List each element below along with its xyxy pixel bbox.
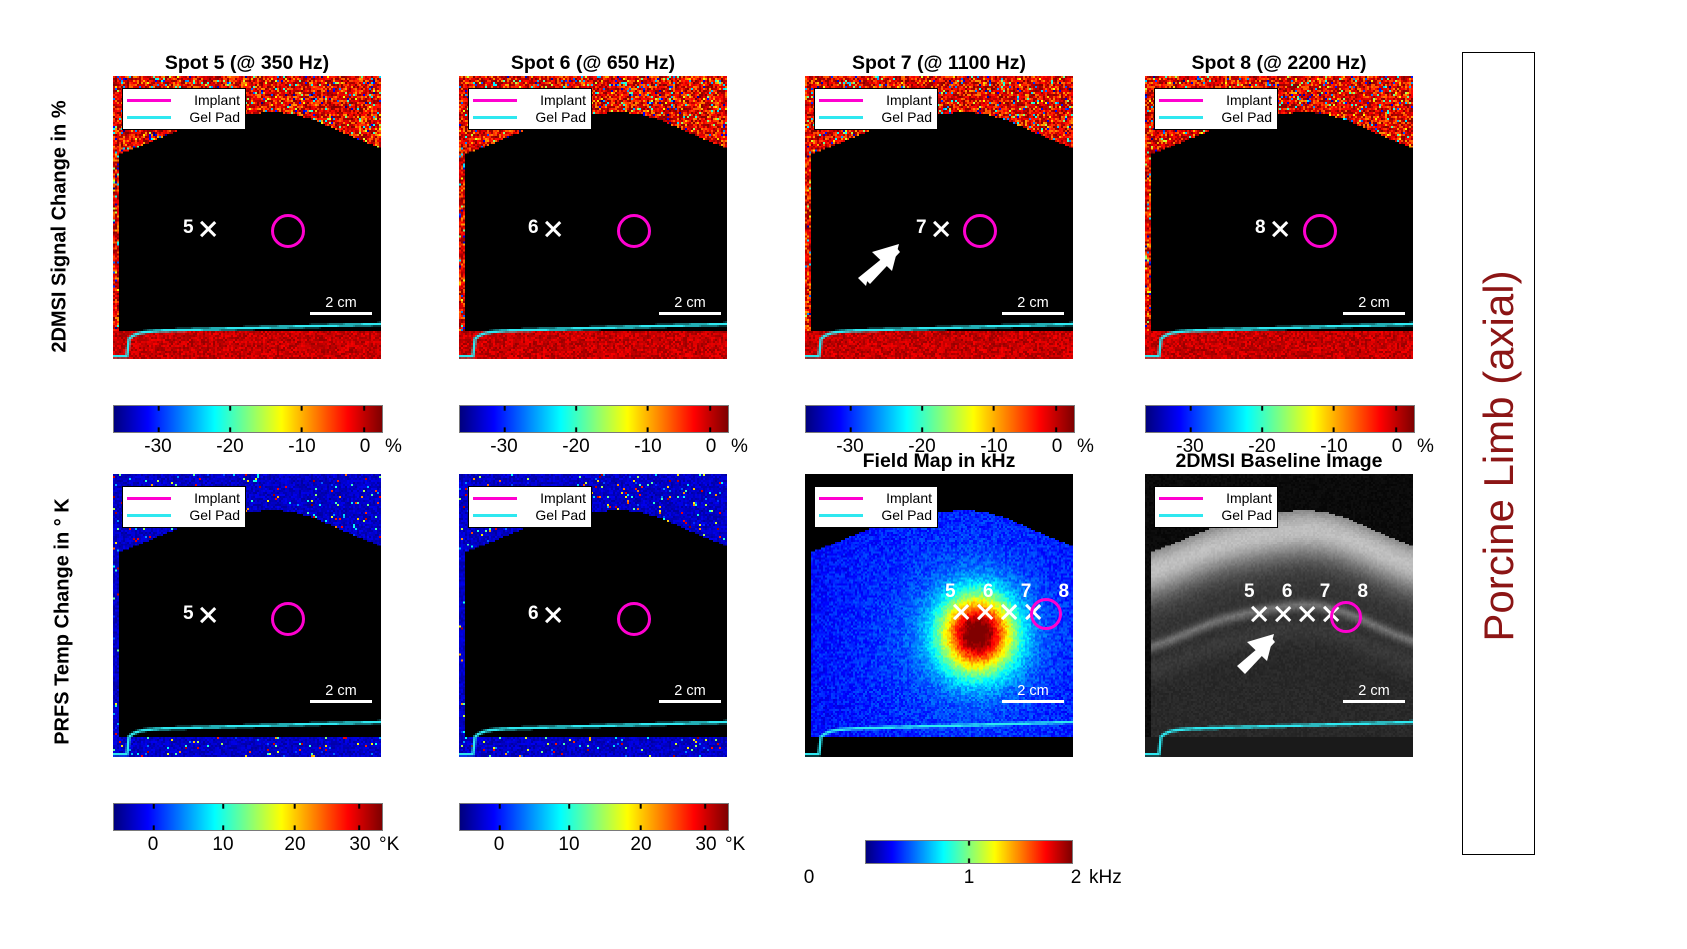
- colorbar-tick-label: -10: [980, 436, 1007, 458]
- implant-circle-spot7: [963, 214, 997, 248]
- colorbar-msi-2: -30 -20 -10 0 %: [459, 405, 729, 463]
- legend-label-gelpad: Gel Pad: [524, 507, 586, 523]
- legend-label-implant: Implant: [178, 490, 240, 506]
- scalebar-text: 2 cm: [1002, 684, 1064, 699]
- implant-circle-baseline: [1330, 601, 1362, 633]
- fieldmap-x-5: [951, 602, 971, 622]
- colorbar-gradient: [1145, 405, 1415, 433]
- colorbar-tick-label: -30: [836, 436, 863, 458]
- colorbar-tick-label: -30: [1176, 436, 1203, 458]
- colorbar-tick-label: -10: [634, 436, 661, 458]
- colorbar-unit: %: [385, 436, 402, 458]
- colorbar-tick-label: 20: [630, 834, 651, 856]
- scalebar-spot5: 2 cm: [310, 296, 372, 315]
- colorbar-unit: %: [1417, 436, 1434, 458]
- legend-row-implant: Implant: [1159, 92, 1272, 109]
- legend-label-implant: Implant: [1210, 490, 1272, 506]
- scalebar-line: [1343, 312, 1405, 315]
- spot-marker-label-5: 5: [183, 218, 194, 237]
- colorbar-tick-label: -20: [1248, 436, 1275, 458]
- scalebar-text: 2 cm: [310, 684, 372, 699]
- gelpad-line-swatch: [819, 514, 863, 517]
- colorbar-gradient: [113, 405, 383, 433]
- scalebar-spot6: 2 cm: [659, 296, 721, 315]
- scalebar-line: [659, 700, 721, 703]
- legend-spot6-msi: Implant Gel Pad: [468, 88, 592, 130]
- colorbar-unit: %: [731, 436, 748, 458]
- scalebar-spot8: 2 cm: [1343, 296, 1405, 315]
- scalebar-line: [310, 700, 372, 703]
- legend-spot7-msi: Implant Gel Pad: [814, 88, 938, 130]
- gelpad-line-swatch: [819, 116, 863, 119]
- spot-marker-label-5-prfs: 5: [183, 604, 194, 623]
- implant-line-swatch: [1159, 497, 1203, 500]
- scalebar-text: 2 cm: [659, 684, 721, 699]
- legend-label-gelpad: Gel Pad: [1210, 109, 1272, 125]
- scalebar-line: [310, 312, 372, 315]
- implant-line-swatch: [473, 497, 517, 500]
- spot-x-marker-5-prfs: [198, 605, 218, 625]
- legend-label-gelpad: Gel Pad: [1210, 507, 1272, 523]
- scalebar-line: [659, 312, 721, 315]
- spot-marker-label-6: 6: [528, 218, 539, 237]
- colorbar-tick-label: 30: [349, 834, 370, 856]
- scalebar-spot6-prfs: 2 cm: [659, 684, 721, 703]
- spot-x-marker-6-prfs: [543, 605, 563, 625]
- legend-label-implant: Implant: [178, 92, 240, 108]
- scalebar-text: 2 cm: [1002, 296, 1064, 311]
- legend-row-implant: Implant: [473, 490, 586, 507]
- colorbar-gradient: [805, 405, 1075, 433]
- legend-label-implant: Implant: [870, 92, 932, 108]
- baseline-x-5: [1249, 604, 1269, 624]
- scalebar-text: 2 cm: [659, 296, 721, 311]
- legend-label-implant: Implant: [524, 92, 586, 108]
- legend-label-implant: Implant: [1210, 92, 1272, 108]
- panel-title-spot7: Spot 7 (@ 1100 Hz): [805, 52, 1073, 75]
- legend-row-gelpad: Gel Pad: [127, 507, 240, 524]
- implant-line-swatch: [127, 497, 171, 500]
- panel-title-spot5: Spot 5 (@ 350 Hz): [113, 52, 381, 75]
- spot-group-labels-fieldmap: 5 6 7 8: [945, 582, 1080, 601]
- gelpad-line-swatch: [1159, 514, 1203, 517]
- legend-row-gelpad: Gel Pad: [127, 109, 240, 126]
- scalebar-line: [1002, 700, 1064, 703]
- colorbar-tick-label: -20: [216, 436, 243, 458]
- colorbar-tick-label: 0: [706, 436, 717, 458]
- legend-label-gelpad: Gel Pad: [870, 109, 932, 125]
- figure-root: 2DMSI Signal Change in % PRFS Temp Chang…: [0, 0, 1687, 949]
- scalebar-line: [1002, 312, 1064, 315]
- row1-axis-label: 2DMSI Signal Change in %: [49, 72, 72, 382]
- gelpad-line-swatch: [127, 514, 171, 517]
- legend-label-gelpad: Gel Pad: [178, 507, 240, 523]
- scalebar-text: 2 cm: [1343, 296, 1405, 311]
- implant-circle-spot5-prfs: [271, 602, 305, 636]
- colorbar-unit: °K: [379, 834, 399, 856]
- colorbar-gradient: [459, 803, 729, 831]
- implant-circle-fieldmap: [1030, 598, 1062, 630]
- colorbar-msi-4: -30 -20 -10 0 %: [1145, 405, 1415, 463]
- colorbar-fieldmap: 0 1 2 kHz: [865, 840, 1073, 898]
- implant-line-swatch: [473, 99, 517, 102]
- colorbar-tick-label: -20: [562, 436, 589, 458]
- implant-circle-spot5: [271, 214, 305, 248]
- colorbar-tick-label: 2: [1071, 867, 1082, 889]
- annotation-arrow-baseline: [1175, 630, 1295, 700]
- colorbar-tick-label: 1: [964, 867, 975, 889]
- legend-spot6-prfs: Implant Gel Pad: [468, 486, 592, 528]
- colorbar-tick-label: 0: [494, 834, 505, 856]
- panel-title-spot8: Spot 8 (@ 2200 Hz): [1145, 52, 1413, 75]
- legend-spot5-msi: Implant Gel Pad: [122, 88, 246, 130]
- colorbar-tick-label: 0: [1392, 436, 1403, 458]
- colorbar-tick-label: 10: [558, 834, 579, 856]
- legend-row-gelpad: Gel Pad: [1159, 109, 1272, 126]
- row2-axis-label: PRFS Temp Change in ° K: [52, 462, 75, 782]
- colorbar-tick-label: 0: [804, 867, 815, 889]
- colorbar-tick-label: -10: [1320, 436, 1347, 458]
- legend-row-gelpad: Gel Pad: [1159, 507, 1272, 524]
- legend-fieldmap: Implant Gel Pad: [814, 486, 938, 528]
- legend-baseline: Implant Gel Pad: [1154, 486, 1278, 528]
- colorbar-unit: °K: [725, 834, 745, 856]
- legend-spot5-prfs: Implant Gel Pad: [122, 486, 246, 528]
- annotation-arrow-spot7: [800, 240, 920, 310]
- scalebar-text: 2 cm: [310, 296, 372, 311]
- colorbar-gradient: [113, 803, 383, 831]
- scalebar-spot5-prfs: 2 cm: [310, 684, 372, 703]
- implant-line-swatch: [819, 99, 863, 102]
- panel-title-spot6: Spot 6 (@ 650 Hz): [459, 52, 727, 75]
- right-annotation-label: Porcine Limb (axial): [1475, 221, 1523, 691]
- legend-label-gelpad: Gel Pad: [524, 109, 586, 125]
- scalebar-spot7: 2 cm: [1002, 296, 1064, 315]
- baseline-x-6: [1273, 604, 1293, 624]
- legend-row-implant: Implant: [473, 92, 586, 109]
- colorbar-prfs-1: 0 10 20 30 °K: [113, 803, 383, 861]
- spot-x-marker-5: [198, 219, 218, 239]
- scalebar-text: 2 cm: [1343, 684, 1405, 699]
- implant-line-swatch: [1159, 99, 1203, 102]
- implant-line-swatch: [819, 497, 863, 500]
- legend-row-gelpad: Gel Pad: [819, 109, 932, 126]
- colorbar-tick-label: 20: [284, 834, 305, 856]
- colorbar-tick-label: -30: [490, 436, 517, 458]
- colorbar-tick-label: -20: [908, 436, 935, 458]
- colorbar-tick-label: 0: [360, 436, 371, 458]
- legend-row-gelpad: Gel Pad: [819, 507, 932, 524]
- legend-row-implant: Implant: [127, 92, 240, 109]
- spot-x-marker-7: [931, 219, 951, 239]
- colorbar-tick-label: 30: [695, 834, 716, 856]
- colorbar-prfs-2: 0 10 20 30 °K: [459, 803, 729, 861]
- colorbar-unit: %: [1077, 436, 1094, 458]
- colorbar-gradient: [459, 405, 729, 433]
- legend-row-gelpad: Gel Pad: [473, 109, 586, 126]
- legend-row-gelpad: Gel Pad: [473, 507, 586, 524]
- spot-marker-label-8: 8: [1255, 218, 1266, 237]
- legend-spot8-msi: Implant Gel Pad: [1154, 88, 1278, 130]
- colorbar-msi-1: -30 -20 -10 0 %: [113, 405, 383, 463]
- implant-circle-spot8: [1303, 214, 1337, 248]
- spot-x-marker-8: [1270, 219, 1290, 239]
- scalebar-baseline: 2 cm: [1343, 684, 1405, 703]
- implant-circle-spot6: [617, 214, 651, 248]
- colorbar-tick-label: -30: [144, 436, 171, 458]
- colorbar-gradient: [865, 840, 1073, 864]
- gelpad-line-swatch: [127, 116, 171, 119]
- legend-row-implant: Implant: [819, 490, 932, 507]
- baseline-x-7: [1297, 604, 1317, 624]
- gelpad-line-swatch: [473, 514, 517, 517]
- legend-label-implant: Implant: [524, 490, 586, 506]
- colorbar-tick-label: 10: [212, 834, 233, 856]
- colorbar-unit: kHz: [1089, 867, 1122, 889]
- spot-marker-label-6-prfs: 6: [528, 604, 539, 623]
- legend-label-implant: Implant: [870, 490, 932, 506]
- implant-line-swatch: [127, 99, 171, 102]
- gelpad-line-swatch: [1159, 116, 1203, 119]
- fieldmap-x-7: [999, 602, 1019, 622]
- spot-marker-label-7: 7: [916, 218, 927, 237]
- legend-label-gelpad: Gel Pad: [178, 109, 240, 125]
- colorbar-tick-label: 0: [1052, 436, 1063, 458]
- implant-circle-spot6-prfs: [617, 602, 651, 636]
- fieldmap-x-6: [975, 602, 995, 622]
- legend-row-implant: Implant: [819, 92, 932, 109]
- colorbar-msi-3: -30 -20 -10 0 %: [805, 405, 1075, 463]
- legend-row-implant: Implant: [127, 490, 240, 507]
- scalebar-fieldmap: 2 cm: [1002, 684, 1064, 703]
- spot-x-marker-6: [543, 219, 563, 239]
- scalebar-line: [1343, 700, 1405, 703]
- colorbar-tick-label: 0: [148, 834, 159, 856]
- legend-row-implant: Implant: [1159, 490, 1272, 507]
- gelpad-line-swatch: [473, 116, 517, 119]
- colorbar-tick-label: -10: [288, 436, 315, 458]
- spot-group-labels-baseline: 5 6 7 8: [1244, 582, 1379, 601]
- legend-label-gelpad: Gel Pad: [870, 507, 932, 523]
